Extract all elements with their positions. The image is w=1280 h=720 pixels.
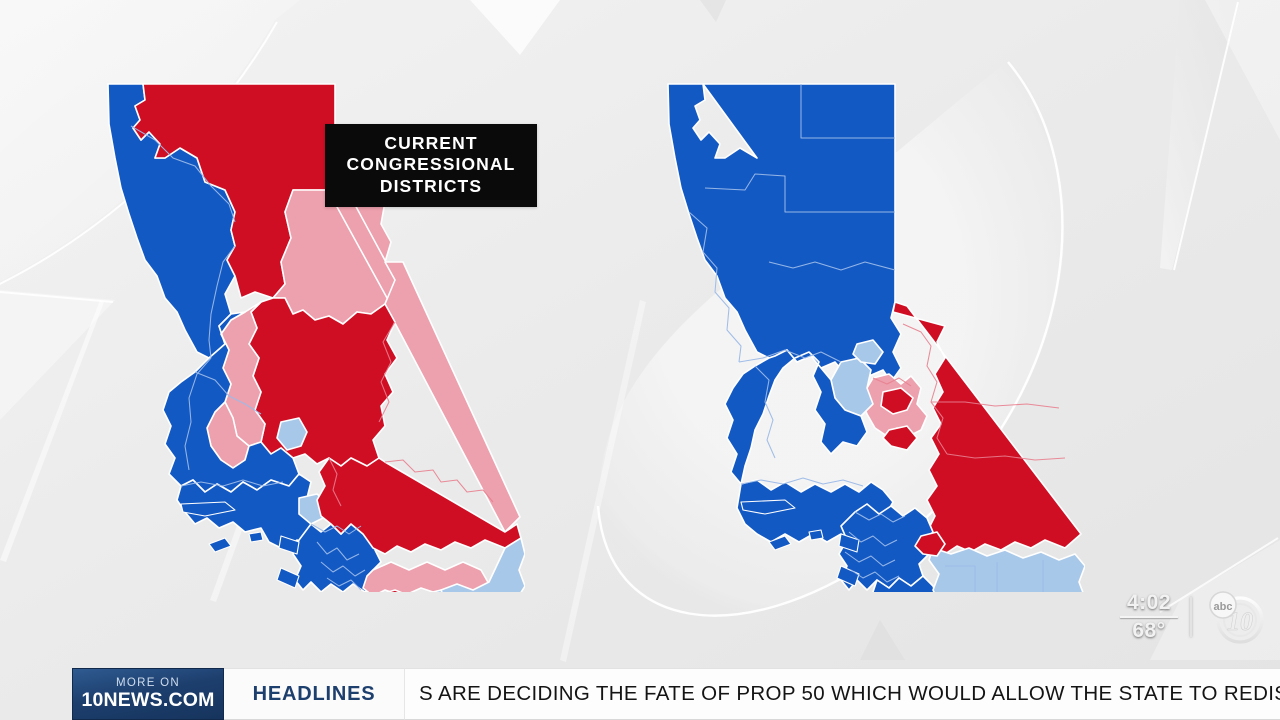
california-proposed-districts-map [645, 62, 1085, 592]
district-region-r-central-valley [249, 298, 397, 466]
lower-third-ticker: MORE ON 10NEWS.COM HEADLINES S ARE DECID… [0, 668, 1280, 720]
more-on-domain: 10NEWS.COM [81, 690, 214, 711]
headlines-label: HEADLINES [253, 683, 376, 706]
bug-divider-rule [1120, 616, 1178, 618]
time-temperature-block: 4:02 68° [1120, 592, 1178, 642]
district-region-lean-r-inland [363, 562, 489, 592]
more-on-10news-button[interactable]: MORE ON 10NEWS.COM [72, 668, 224, 720]
station-bug: 4:02 68° 10 abc [1120, 586, 1266, 648]
proposed-districts-panel: PROPOSED CONGRESSIONAL DISTRICTS [540, 0, 1280, 660]
current-temperature: 68° [1132, 619, 1165, 642]
district-region-d-north-all [668, 84, 901, 382]
headlines-label-box: HEADLINES [224, 668, 404, 720]
svg-text:abc: abc [1214, 601, 1233, 613]
plate-line-1: CURRENT [341, 133, 521, 154]
current-districts-title-plate: CURRENT CONGRESSIONAL DISTRICTS [325, 124, 537, 207]
abc-10-station-logo-icon: 10 abc [1204, 588, 1266, 646]
news-crawl: S ARE DECIDING THE FATE OF PROP 50 WHICH… [404, 668, 1280, 720]
plate-line-3: DISTRICTS [341, 176, 521, 197]
district-region-lean-d-inland-south [929, 548, 1085, 592]
bug-vertical-divider [1190, 597, 1192, 637]
plate-line-2: CONGRESSIONAL [341, 154, 521, 175]
news-crawl-text: S ARE DECIDING THE FATE OF PROP 50 WHICH… [419, 682, 1280, 706]
current-time: 4:02 [1127, 592, 1171, 614]
